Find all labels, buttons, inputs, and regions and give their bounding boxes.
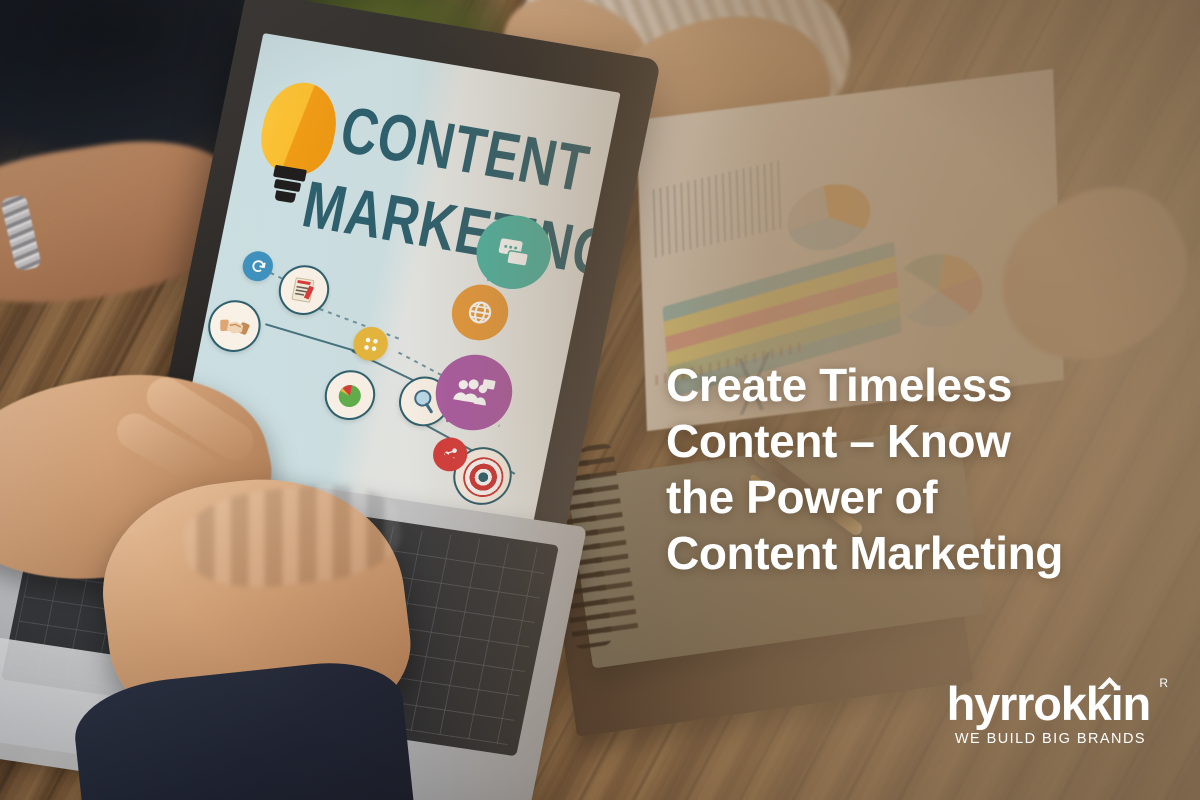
marketing-banner: CONTENT MARKETING — [0, 0, 1200, 800]
headline-line-3: the Power of — [666, 469, 1166, 525]
headline-line-2: Content – Know — [666, 413, 1166, 469]
chevron-accent-icon — [1096, 674, 1120, 689]
logo-tagline: WE BUILD BIG BRANDS — [860, 731, 1150, 747]
headline: Create Timeless Content – Know the Power… — [666, 357, 1166, 581]
registered-mark: R — [1159, 676, 1168, 690]
logo-wordmark-row: hyrrokkin R — [947, 678, 1150, 730]
headline-line-1: Create Timeless — [666, 357, 1166, 413]
headline-line-4: Content Marketing — [666, 525, 1166, 581]
brand-logo[interactable]: hyrrokkin R WE BUILD BIG BRANDS — [860, 678, 1150, 747]
